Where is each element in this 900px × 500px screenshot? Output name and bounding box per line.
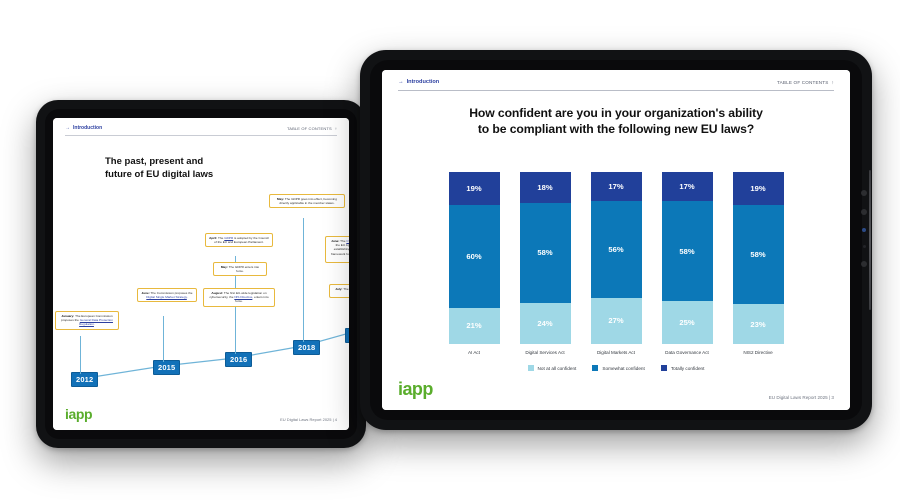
volume-down-button[interactable] <box>861 209 867 215</box>
microphone-icon <box>863 245 866 248</box>
timeline-callout-2015-june[interactable]: June: The Commission proposes the Digita… <box>137 288 197 302</box>
stacked-bar[interactable]: 19%58%23% <box>733 172 784 344</box>
timeline-year-2015[interactable]: 2015 <box>153 360 180 375</box>
bar-segment: 56% <box>591 201 642 297</box>
callout-link[interactable]: Digital Single Market Strategy <box>146 295 187 299</box>
timeline-callout-2019-july[interactable]: July: The Open Data Directive enters int… <box>329 284 349 298</box>
scene: → Introduction TABLE OF CONTENTS ↑ The p… <box>0 0 900 500</box>
slide-chart: → Introduction TABLE OF CONTENTS ↑ How c… <box>382 70 850 410</box>
page-footer-right: EU Digital Laws Report 2025 | 3 <box>769 395 834 400</box>
category-label: AI Act <box>468 350 480 355</box>
timeline-stem-2018 <box>303 218 304 342</box>
legend-swatch-icon <box>528 365 534 371</box>
bar-group: 18%58%24%Digital Services Act <box>520 172 571 355</box>
tablet-side-buttons[interactable] <box>860 190 868 267</box>
bar-group: 17%58%25%Data Governance Act <box>662 172 713 355</box>
breadcrumb-left[interactable]: → Introduction <box>65 125 102 131</box>
callout-tail: . <box>94 322 95 326</box>
chart-legend: Not at all confidentSomewhat confidentTo… <box>382 365 850 371</box>
tablet-device-left: → Introduction TABLE OF CONTENTS ↑ The p… <box>36 100 366 448</box>
slide-left-header: → Introduction TABLE OF CONTENTS ↑ <box>53 118 349 135</box>
legend-item[interactable]: Not at all confident <box>528 365 577 371</box>
breadcrumb-label: Introduction <box>407 79 440 85</box>
bar-segment: 21% <box>449 308 500 344</box>
timeline-callout-2018-may[interactable]: May: The GDPR goes into effect, becoming… <box>269 194 345 208</box>
slide-left-body: The past, present and future of EU digit… <box>53 136 349 406</box>
timeline-callout-2016-august[interactable]: August: The first EU-wide legislation on… <box>203 288 275 307</box>
power-button[interactable] <box>861 261 867 267</box>
timeline: 2012 2015 2016 2018 2019 January <box>53 136 349 406</box>
toc-label: TABLE OF CONTENTS <box>287 126 332 131</box>
iapp-logo-right: iapp <box>398 379 433 400</box>
bar-segment: 58% <box>733 205 784 305</box>
bar-segment: 25% <box>662 301 713 344</box>
tablet-left-screen[interactable]: → Introduction TABLE OF CONTENTS ↑ The p… <box>53 118 349 430</box>
breadcrumb-right[interactable]: → Introduction <box>398 79 439 85</box>
slide-timeline: → Introduction TABLE OF CONTENTS ↑ The p… <box>53 118 349 430</box>
callout-text: The GDPR enters into force. <box>228 265 259 273</box>
toc-label: TABLE OF CONTENTS <box>777 80 829 85</box>
timeline-year-2016[interactable]: 2016 <box>225 352 252 367</box>
bar-segment: 18% <box>520 172 571 203</box>
category-label: NIS2 Directive <box>743 350 772 355</box>
callout-link[interactable]: General Data Protection Regulation <box>79 318 113 326</box>
bar-segment: 17% <box>662 172 713 201</box>
arrow-up-icon: ↑ <box>335 126 337 131</box>
bar-segment: 24% <box>520 303 571 344</box>
tablet-right-screen[interactable]: → Introduction TABLE OF CONTENTS ↑ How c… <box>382 70 850 410</box>
bar-segment: 19% <box>449 172 500 205</box>
bar-segment: 27% <box>591 298 642 344</box>
bar-segment: 58% <box>662 201 713 301</box>
category-label: Data Governance Act <box>665 350 709 355</box>
chart-title: How confident are you in your organizati… <box>416 105 816 137</box>
timeline-callout-2019-june[interactable]: June: The Cybersecurity Act, strengtheni… <box>325 236 349 263</box>
legend-label: Somewhat confident <box>602 366 644 371</box>
category-label: Digital Services Act <box>525 350 564 355</box>
bar-segment: 23% <box>733 304 784 344</box>
timeline-stem-2015 <box>163 316 164 362</box>
stacked-bar-chart: 19%60%21%AI Act18%58%24%Digital Services… <box>382 137 850 355</box>
stacked-bar[interactable]: 18%58%24% <box>520 172 571 344</box>
header-divider-right <box>398 90 834 91</box>
stacked-bar[interactable]: 17%56%27% <box>591 172 642 344</box>
bar-segment: 19% <box>733 172 784 205</box>
volume-up-button[interactable] <box>861 190 867 196</box>
legend-item[interactable]: Somewhat confident <box>592 365 644 371</box>
callout-month: May: <box>221 265 228 269</box>
legend-swatch-icon <box>661 365 667 371</box>
bar-segment: 17% <box>591 172 642 201</box>
arrow-up-icon: ↑ <box>832 80 834 85</box>
table-of-contents-link-right[interactable]: TABLE OF CONTENTS ↑ <box>777 80 834 85</box>
chart-title-line2: to be compliant with the following new E… <box>416 121 816 137</box>
timeline-callout-2012-january[interactable]: January: The European Commission propose… <box>55 311 119 330</box>
slide-right-header: → Introduction TABLE OF CONTENTS ↑ <box>382 70 850 90</box>
category-label: Digital Markets Act <box>597 350 635 355</box>
timeline-callout-2016-may[interactable]: May: The GDPR enters into force. <box>213 262 267 276</box>
legend-label: Totally confident <box>671 366 705 371</box>
callout-tail: . <box>187 295 188 299</box>
bar-segment: 58% <box>520 203 571 303</box>
table-of-contents-link-left[interactable]: TABLE OF CONTENTS ↑ <box>287 126 337 131</box>
slide-right-footer: iapp EU Digital Laws Report 2025 | 3 <box>382 379 850 410</box>
arrow-right-icon: → <box>398 79 404 85</box>
bar-group: 19%58%23%NIS2 Directive <box>733 172 784 355</box>
bar-group: 19%60%21%AI Act <box>449 172 500 355</box>
timeline-year-2018[interactable]: 2018 <box>293 340 320 355</box>
legend-item[interactable]: Totally confident <box>661 365 705 371</box>
tablet-device-right: → Introduction TABLE OF CONTENTS ↑ How c… <box>360 50 872 430</box>
bar-group: 17%56%27%Digital Markets Act <box>591 172 642 355</box>
stacked-bar[interactable]: 17%58%25% <box>662 172 713 344</box>
breadcrumb-label: Introduction <box>73 125 102 131</box>
tablet-side-edge <box>869 170 871 310</box>
arrow-right-icon: → <box>65 125 70 131</box>
legend-swatch-icon <box>592 365 598 371</box>
bar-segment: 60% <box>449 205 500 308</box>
callout-text: The GDPR goes into effect, becoming dire… <box>279 197 337 205</box>
timeline-year-2019[interactable]: 2019 <box>345 328 349 343</box>
timeline-callout-2016-april[interactable]: April: The GDPR is adopted by the Counci… <box>205 233 273 247</box>
timeline-stem-2012 <box>80 336 81 374</box>
timeline-year-2012[interactable]: 2012 <box>71 372 98 387</box>
camera-icon <box>862 228 866 232</box>
legend-label: Not at all confident <box>538 366 577 371</box>
chart-title-line1: How confident are you in your organizati… <box>416 105 816 121</box>
stacked-bar[interactable]: 19%60%21% <box>449 172 500 344</box>
